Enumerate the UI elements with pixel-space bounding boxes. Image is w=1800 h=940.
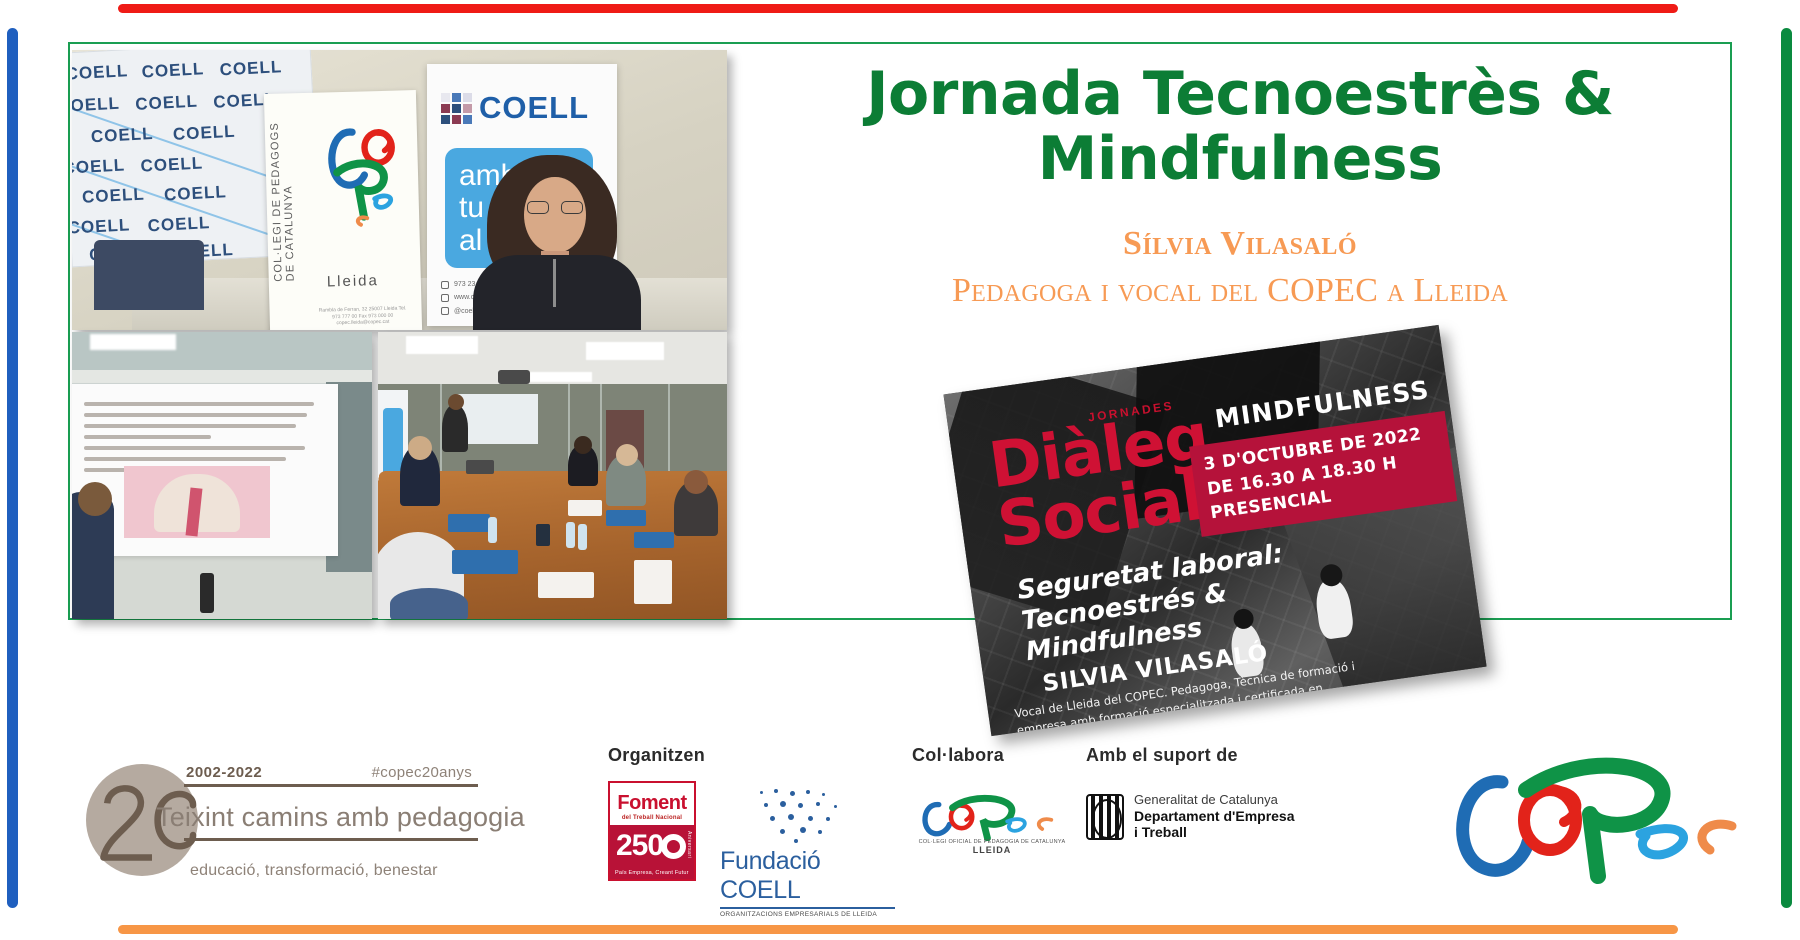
right-green-bar: [1781, 28, 1792, 908]
anniversary-rule-bottom: [184, 838, 478, 841]
support-label: Amb el suport de: [1086, 745, 1386, 766]
coell-word: COELL: [147, 213, 211, 236]
generalitat-line-3: i Treball: [1134, 824, 1295, 840]
table-paper: [538, 572, 594, 598]
sponsor-group-organizers: Organitzen Foment del Treball Nacional 2…: [608, 745, 908, 895]
table-folder: [448, 514, 490, 532]
copec-rollup-city: Lleida: [327, 272, 379, 290]
speaker-role: Pedagoga i vocal del COPEC a Lleida: [700, 272, 1760, 310]
event-poster: JORNADES Diàleg Social MINDFULNESS 3 D'O…: [943, 325, 1486, 736]
left-blue-bar: [7, 28, 18, 908]
bottom-orange-bar: [118, 925, 1678, 934]
coell-word: COELL: [72, 61, 129, 84]
collaborator-label: Col·labora: [912, 745, 1082, 766]
generalitat-line-1: Generalitat de Catalunya: [1134, 793, 1295, 808]
coell-wordmark: COELL: [479, 90, 589, 126]
coell-logo-icon: COELL: [441, 90, 589, 126]
photo-projection-screen: [72, 332, 372, 619]
generalitat-shield-icon: [1086, 794, 1124, 840]
anniversary-slogan: Teixint camins amb pedagogia: [156, 802, 525, 833]
speaker-name: Sílvia Vilasaló: [740, 225, 1740, 263]
table-folder: [634, 532, 674, 548]
photo-speaker-person: [467, 155, 642, 330]
coell-word: COELL: [172, 122, 236, 145]
title-line-2: Mindfulness: [740, 127, 1740, 192]
copec-logo-icon: [316, 108, 415, 230]
coell-word: COELL: [164, 182, 228, 205]
room-attendee-head: [684, 470, 708, 494]
poster-title: Diàleg Social: [986, 406, 1220, 555]
foment-250: 250: [616, 829, 663, 863]
sponsor-group-collaborator: Col·labora COL·LEGI OFICIAL DE PEDAGOGIA…: [912, 745, 1082, 895]
coell-word: COELL: [140, 153, 204, 176]
copec-logo: [1444, 738, 1744, 888]
room-presenter: [442, 404, 468, 452]
room-attendee-lap: [390, 588, 468, 619]
coell-word: COELL: [72, 94, 120, 117]
foment-anniversary-text: Aniversari: [686, 831, 692, 858]
organizers-label: Organitzen: [608, 745, 908, 766]
sponsor-group-support: Amb el suport de Generalitat de Cataluny…: [1086, 745, 1386, 895]
anniversary-hashtag: #copec20anys: [372, 764, 472, 781]
fundacio-coell-logo: Fundació COELL ORGANITZACIONS EMPRESARIA…: [720, 789, 895, 918]
photo-meeting-room: [378, 332, 727, 619]
fundacio-coell-subtitle: ORGANITZACIONS EMPRESARIALS DE LLEIDA: [720, 911, 895, 918]
photo-chair: [94, 240, 204, 310]
copec-rollup-vertical-text: COL·LEGI DE PEDAGOGS DE CATALUNYA: [268, 101, 297, 282]
table-paper: [568, 500, 602, 516]
water-bottle: [578, 524, 587, 550]
room-presenter-head: [448, 394, 464, 410]
room-projection-screen: [456, 394, 538, 444]
anniversary-tagline: educació, transformació, benestar: [190, 862, 438, 880]
coell-word: COELL: [82, 184, 146, 207]
water-bottle: [566, 522, 575, 548]
copec-rollup-banner: COL·LEGI DE PEDAGOGS DE CATALUNYA Lleida…: [264, 90, 422, 330]
coell-word: COELL: [72, 215, 131, 238]
fundacio-coell-wordmark: Fundació COELL: [720, 847, 895, 905]
top-red-bar: [118, 4, 1678, 13]
title-line-1: Jornada Tecnoestrès &: [740, 62, 1740, 127]
photo-speaker-at-rollup: COELL COELL COELL COELL COELL COELL COEL…: [72, 50, 727, 330]
room-attendee-head: [574, 436, 592, 454]
table-folder: [452, 550, 518, 574]
room-attendee-head: [616, 444, 638, 466]
room-attendee-head: [408, 436, 432, 460]
table-standee: [634, 560, 672, 604]
anniversary-logo: 2002-2022 #copec20anys Teixint camins am…: [78, 760, 478, 880]
foment-ring-icon: [661, 834, 686, 859]
copec-lleida-logo-icon: [916, 785, 1068, 841]
table-device: [536, 524, 550, 546]
coell-dots-icon: [760, 789, 895, 847]
anniversary-rule-top: [184, 784, 478, 787]
foment-wordmark: Foment: [617, 792, 686, 815]
generalitat-logo: Generalitat de Catalunya Departament d'E…: [1086, 793, 1295, 840]
table-laptop: [466, 460, 494, 474]
slide-canvas: COELL COELL COELL COELL COELL COELL COEL…: [0, 0, 1800, 940]
anniversary-years: 2002-2022: [186, 764, 262, 781]
copec-lleida-city: LLEIDA: [912, 845, 1072, 855]
page-title: Jornada Tecnoestrès & Mindfulness: [740, 62, 1740, 192]
copec-rollup-address: Rambla de Ferran, 32 25007 Lleida Tel. 9…: [318, 306, 408, 327]
coell-word: COELL: [135, 92, 199, 115]
coell-word: COELL: [141, 59, 205, 82]
coell-word: COELL: [219, 57, 283, 80]
foment-footer: País Empresa, Creant Futur: [615, 870, 689, 876]
table-folder: [606, 510, 646, 526]
foment-subtitle: del Treball Nacional: [622, 815, 682, 821]
coell-word: COELL: [72, 155, 126, 178]
copec-lleida-logo: COL·LEGI OFICIAL DE PEDAGOGIA DE CATALUN…: [912, 785, 1072, 855]
coell-word: COELL: [90, 124, 154, 147]
foment-logo: Foment del Treball Nacional 250 Aniversa…: [608, 781, 696, 881]
water-bottle: [488, 517, 497, 543]
generalitat-line-2: Departament d'Empresa: [1134, 808, 1295, 824]
